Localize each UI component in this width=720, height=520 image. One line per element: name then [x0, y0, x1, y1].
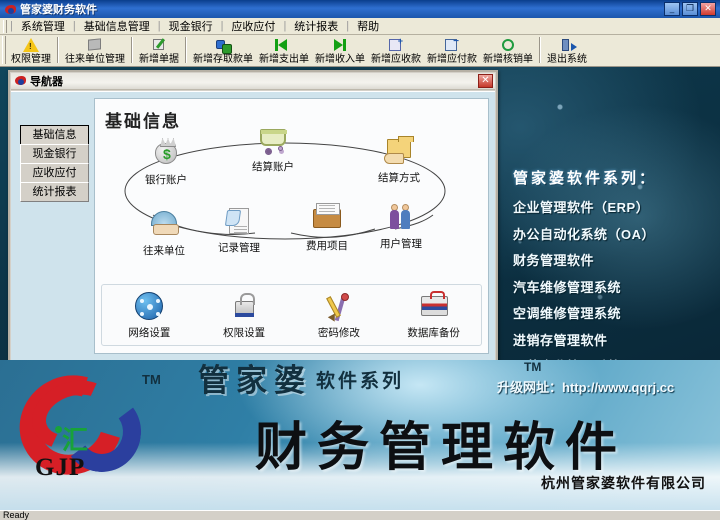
close-button[interactable]: ✕: [700, 2, 716, 16]
toolbar-divider: [539, 37, 541, 63]
tool-database-backup[interactable]: 数据库备份: [396, 291, 472, 340]
product-item-finance: 财务管理软件: [513, 250, 713, 269]
app-swirl-icon: [4, 3, 17, 16]
mdi-client-area: 管家婆软件系列： 企业管理软件（ERP） 办公自动化系统（OA） 财务管理软件 …: [0, 67, 720, 510]
flow-node-record-mgmt[interactable]: 记录管理: [205, 205, 273, 255]
gray-card-icon: [87, 37, 103, 53]
pencil-person-icon: [322, 291, 356, 323]
flow-node-label: 结算账户: [239, 159, 307, 174]
banner-big-title: 财务管理软件: [255, 405, 627, 480]
bottom-banner: 汇 GJP TM 管家婆 TM 软件系列 升级网址：http://www.qqr…: [0, 360, 720, 510]
maximize-button[interactable]: ❐: [682, 2, 698, 16]
toolbar-label: 权限管理: [11, 54, 51, 65]
network-globe-icon: [132, 291, 166, 323]
trademark-left: TM: [142, 372, 161, 387]
flow-node-partner-unit[interactable]: 往来单位: [130, 208, 198, 258]
product-item-inventory: 进销存管理软件: [513, 330, 713, 349]
folder-hand-icon: [381, 135, 417, 169]
warning-triangle-icon: [23, 37, 39, 53]
navigator-title: 导航器: [30, 73, 63, 89]
flow-node-label: 记录管理: [205, 240, 273, 255]
menubar-grip[interactable]: [3, 20, 7, 33]
toolbar-button-new-payable[interactable]: 新增应付款: [424, 36, 480, 66]
green-arrow-right-icon: [332, 37, 348, 53]
database-case-icon: [417, 291, 451, 323]
product-item-aircon-repair: 空调维修管理系统: [513, 303, 713, 322]
navigator-content-panel: 基础信息 银行账户 结算账户: [94, 98, 489, 354]
handshake-icon: [146, 208, 182, 242]
flow-diagram: 银行账户 结算账户 结算方式 往来单位: [95, 129, 488, 274]
brand-line: 管家婆 TM 软件系列: [198, 364, 404, 398]
brand-subtitle: 软件系列: [316, 366, 404, 398]
window-controls: _ ❐ ✕: [664, 2, 718, 16]
toolbar: 权限管理 往来单位管理 新增单据 新增存取款单 新增支出单 新增收入单 新增应收…: [0, 35, 720, 67]
flow-node-label: 银行账户: [132, 172, 200, 187]
toolbar-grip[interactable]: [2, 36, 6, 64]
tool-label: 网络设置: [111, 325, 187, 340]
upgrade-url[interactable]: 升级网址：http://www.qqrj.cc: [497, 377, 674, 396]
tool-permission-settings[interactable]: 权限设置: [206, 291, 282, 340]
navigator-sidebar: 基础信息 现金银行 应收应付 统计报表: [20, 125, 89, 201]
logo-mark: 汇: [62, 420, 88, 457]
toolbar-button-new-deposit[interactable]: 新增存取款单: [190, 36, 256, 66]
product-item-auto-repair: 汽车维修管理系统: [513, 277, 713, 296]
green-arrow-left-icon: [276, 37, 292, 53]
toolbar-label: 新增存取款单: [193, 54, 253, 65]
gjp-logo: 汇 GJP: [15, 372, 165, 490]
two-users-icon: [383, 201, 419, 235]
toolbar-label: 新增应收款: [371, 54, 421, 65]
toolbar-button-new-receivable[interactable]: 新增应收款: [368, 36, 424, 66]
menu-item-reports[interactable]: 统计报表: [286, 17, 346, 35]
toolbar-label: 往来单位管理: [65, 54, 125, 65]
toolbar-button-partner-mgmt[interactable]: 往来单位管理: [62, 36, 128, 66]
brand-trademark: TM: [524, 360, 541, 374]
flow-node-label: 结算方式: [365, 170, 433, 185]
tool-network-settings[interactable]: 网络设置: [111, 291, 187, 340]
navigator-window: 导航器 ✕ 基础信息 现金银行 应收应付 统计报表 基础信息: [8, 70, 498, 363]
statusbar: Ready: [0, 510, 720, 520]
toolbar-divider: [131, 37, 133, 63]
toolbar-divider: [185, 37, 187, 63]
app-swirl-icon: [15, 75, 27, 87]
product-item-erp: 企业管理软件（ERP）: [513, 197, 713, 216]
toolbar-button-permission[interactable]: 权限管理: [8, 36, 54, 66]
navigator-titlebar: 导航器 ✕: [11, 73, 495, 90]
pencil-document-icon: [151, 37, 167, 53]
receivable-plus-icon: [388, 37, 404, 53]
flow-node-settlement-account[interactable]: 结算账户: [239, 124, 307, 174]
tool-password-change[interactable]: 密码修改: [301, 291, 377, 340]
menu-item-cash-bank[interactable]: 现金银行: [161, 17, 221, 35]
padlock-icon: [227, 291, 261, 323]
toolbar-label: 新增收入单: [315, 54, 365, 65]
toolbar-label: 新增支出单: [259, 54, 309, 65]
toolbar-label: 新增核销单: [483, 54, 533, 65]
tools-row: 网络设置 权限设置 密码修改 数据库备份: [101, 284, 482, 346]
logo-text: GJP: [35, 454, 85, 482]
green-circle-icon: [500, 37, 516, 53]
flow-node-label: 费用项目: [293, 238, 361, 253]
tool-label: 密码修改: [301, 325, 377, 340]
flow-node-expense-item[interactable]: 费用项目: [293, 203, 361, 253]
product-item-oa: 办公自动化系统（OA）: [513, 224, 713, 243]
flow-node-bank-account[interactable]: 银行账户: [132, 137, 200, 187]
toolbar-button-new-income[interactable]: 新增收入单: [312, 36, 368, 66]
menu-item-help[interactable]: 帮助: [349, 17, 387, 35]
menu-item-system[interactable]: 系统管理: [13, 17, 73, 35]
window-title: 管家婆财务软件: [20, 1, 97, 17]
exit-door-icon: [559, 37, 575, 53]
sidebar-item-basic-info[interactable]: 基础信息: [20, 125, 89, 145]
flow-node-user-mgmt[interactable]: 用户管理: [367, 201, 435, 251]
tool-label: 权限设置: [206, 325, 282, 340]
toolbar-label: 退出系统: [547, 54, 587, 65]
menu-item-receivable-payable[interactable]: 应收应付: [223, 17, 283, 35]
document-pen-icon: [221, 205, 257, 239]
navigator-body: 基础信息 现金银行 应收应付 统计报表 基础信息 银行账户: [11, 91, 495, 360]
payable-minus-icon: [444, 37, 460, 53]
sidebar-item-receivable-payable[interactable]: 应收应付: [20, 163, 89, 183]
navigator-close-icon[interactable]: ✕: [478, 74, 493, 88]
sidebar-item-reports[interactable]: 统计报表: [20, 182, 89, 202]
company-name: 杭州管家婆软件有限公司: [541, 473, 706, 493]
toolbar-button-new-expense[interactable]: 新增支出单: [256, 36, 312, 66]
brand-name: 管家婆: [198, 364, 312, 398]
toolbar-button-new-document[interactable]: 新增单据: [136, 36, 182, 66]
flow-node-label: 往来单位: [130, 243, 198, 258]
sidebar-item-cash-bank[interactable]: 现金银行: [20, 144, 89, 164]
blue-green-blocks-icon: [215, 37, 231, 53]
toolbar-label: 新增单据: [139, 54, 179, 65]
product-series-heading: 管家婆软件系列：: [513, 167, 713, 188]
minimize-button[interactable]: _: [664, 2, 680, 16]
card-box-icon: [309, 203, 345, 237]
flow-node-settlement-method[interactable]: 结算方式: [365, 135, 433, 185]
tool-label: 数据库备份: [396, 325, 472, 340]
money-bag-icon: [148, 137, 184, 171]
shopping-cart-icon: [255, 124, 291, 158]
menu-item-basic-info[interactable]: 基础信息管理: [76, 17, 158, 35]
menubar: | 系统管理 | 基础信息管理 | 现金银行 | 应收应付 | 统计报表 | 帮…: [0, 18, 720, 35]
toolbar-label: 新增应付款: [427, 54, 477, 65]
toolbar-button-new-writeoff[interactable]: 新增核销单: [480, 36, 536, 66]
flow-node-label: 用户管理: [367, 236, 435, 251]
toolbar-button-exit[interactable]: 退出系统: [544, 36, 590, 66]
window-titlebar: 管家婆财务软件 _ ❐ ✕: [0, 0, 720, 18]
toolbar-divider: [57, 37, 59, 63]
